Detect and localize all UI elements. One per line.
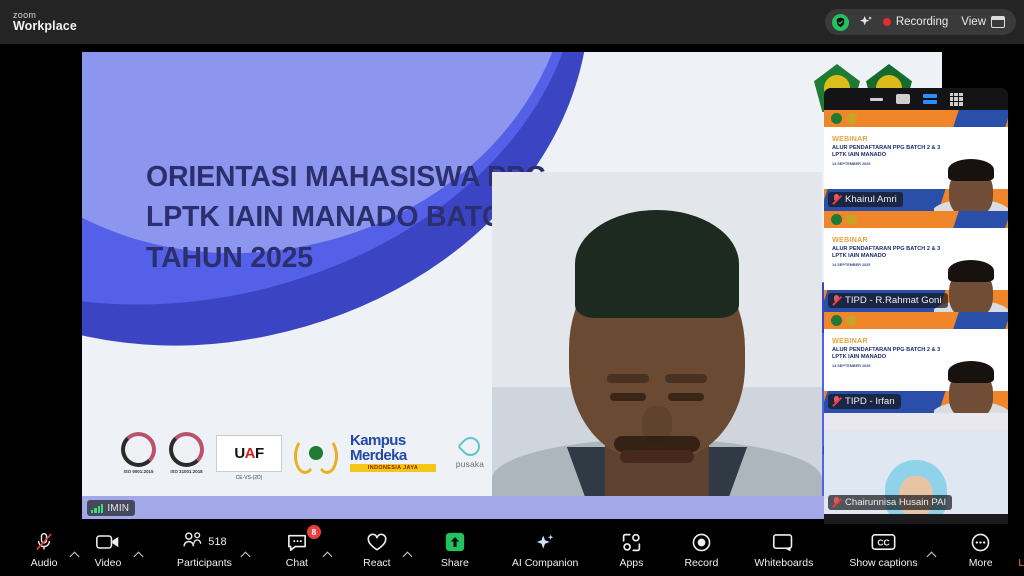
chat-label: Chat xyxy=(286,557,308,569)
react-label: React xyxy=(363,557,390,569)
audio-label: Audio xyxy=(31,557,58,569)
participants-button[interactable]: 518 Participants xyxy=(168,526,241,574)
audio-options-caret-icon[interactable] xyxy=(70,552,80,562)
chat-bubble-icon xyxy=(286,531,308,553)
meeting-stage: ORIENTASI MAHASISWA PPG LPTK IAIN MANADO… xyxy=(0,44,1024,524)
thumb-slide-date: 14 SEPTEMBER 2025 xyxy=(832,364,944,368)
shared-screen[interactable]: ORIENTASI MAHASISWA PPG LPTK IAIN MANADO… xyxy=(82,52,942,519)
participant-tile[interactable]: WEBINAR ALUR PENDAFTARAN PPG BATCH 2 & 3… xyxy=(824,211,1008,312)
layout-grid-icon xyxy=(991,16,1005,28)
participants-options-caret-icon[interactable] xyxy=(240,552,250,562)
more-label: More xyxy=(969,557,993,569)
view-selector[interactable]: View xyxy=(961,16,1005,28)
participant-name-badge: Khairul Amri xyxy=(828,192,903,207)
participants-label: Participants xyxy=(177,557,232,569)
record-label: Record xyxy=(684,557,718,569)
thumb-slide-date: 14 SEPTEMBER 2025 xyxy=(832,263,944,267)
show-captions-label: Show captions xyxy=(849,557,917,569)
record-dot-icon xyxy=(691,531,712,553)
share-screen-icon xyxy=(444,531,466,553)
apps-label: Apps xyxy=(619,557,643,569)
closed-caption-icon: CC xyxy=(871,531,896,553)
share-button[interactable]: Share xyxy=(429,526,481,574)
microphone-muted-icon xyxy=(832,295,841,306)
participant-name: TIPD - R.Rahmat Goni xyxy=(845,295,942,306)
sparkle-icon xyxy=(534,531,556,553)
share-label: Share xyxy=(441,557,469,569)
zoom-workplace-logo: zoom Workplace xyxy=(13,11,77,34)
video-options-caret-icon[interactable] xyxy=(134,552,144,562)
shield-check-icon[interactable] xyxy=(832,14,849,31)
recording-indicator[interactable]: Recording xyxy=(883,16,948,28)
view-label: View xyxy=(961,16,986,28)
speaker-view-icon[interactable] xyxy=(896,94,910,104)
participant-name-badge: Chairunnisa Husain PAI xyxy=(828,495,952,510)
apps-button[interactable]: Apps xyxy=(605,526,657,574)
meeting-status-controls: Recording View xyxy=(825,9,1016,35)
uaf-logo-icon: UAF CE-VS-(2D) xyxy=(216,435,282,472)
react-button[interactable]: React xyxy=(351,526,403,574)
more-button[interactable]: More xyxy=(955,526,1007,574)
participant-tile[interactable]: Chairunnisa Husain PAI xyxy=(824,413,1008,514)
record-button[interactable]: Record xyxy=(675,526,727,574)
participant-name: TIPD - Irfan xyxy=(845,396,895,407)
participants-filmstrip[interactable]: WEBINAR ALUR PENDAFTARAN PPG BATCH 2 & 3… xyxy=(824,88,1008,564)
window-title-bar: zoom Workplace Recording View xyxy=(0,0,1024,44)
ellipsis-icon xyxy=(970,531,991,553)
meeting-toolbar: Audio Video xyxy=(0,524,1024,576)
leave-button[interactable]: Leave xyxy=(1007,526,1024,574)
video-button[interactable]: Video xyxy=(82,526,134,574)
thumb-slide-title: ALUR PENDAFTARAN PPG BATCH 2 & 3 LPTK IA… xyxy=(832,145,944,160)
slide-logo-row: ISO 9001:2015 ISO 21001:2018 UAF CE-VS-(… xyxy=(120,432,493,475)
minimize-bar-icon[interactable] xyxy=(870,98,883,101)
participant-name: Chairunnisa Husain PAI xyxy=(845,497,946,508)
laurel-seal-logo-icon xyxy=(293,434,339,472)
ai-companion-button[interactable]: AI Companion xyxy=(503,526,588,574)
apps-icon xyxy=(621,531,642,553)
participants-count: 518 xyxy=(208,536,226,548)
thumb-slide-date: 14 SEPTEMBER 2025 xyxy=(832,162,944,166)
captions-options-caret-icon[interactable] xyxy=(926,552,936,562)
whiteboards-label: Whiteboards xyxy=(754,557,813,569)
participant-tile[interactable]: WEBINAR ALUR PENDAFTARAN PPG BATCH 2 & 3… xyxy=(824,110,1008,211)
participant-name-badge: TIPD - Irfan xyxy=(828,394,901,409)
chat-unread-badge: 8 xyxy=(307,525,321,539)
svg-text:CC: CC xyxy=(877,538,889,548)
thumb-slide-title: ALUR PENDAFTARAN PPG BATCH 2 & 3 LPTK IA… xyxy=(832,246,944,261)
kampus-merdeka-logo-icon: Kampus Merdeka INDONESIA JAYA xyxy=(350,434,436,472)
pusaka-logo-icon: pusaka xyxy=(447,437,493,469)
recording-dot-icon xyxy=(883,18,891,26)
chat-button[interactable]: 8 Chat xyxy=(271,526,323,574)
heart-icon xyxy=(366,531,388,553)
camera-icon xyxy=(96,531,120,553)
presenter-songkok-cap xyxy=(575,210,739,318)
thumb-slide-kicker: WEBINAR xyxy=(832,336,944,345)
iso-badge-2-icon: ISO 21001:2018 xyxy=(168,432,205,475)
microphone-muted-icon xyxy=(832,497,841,508)
presenter-name: IMIN xyxy=(107,503,129,514)
microphone-muted-icon xyxy=(34,531,54,553)
show-captions-button[interactable]: CC Show captions xyxy=(840,526,926,574)
side-by-side-view-icon[interactable] xyxy=(923,94,937,104)
gallery-view-icon[interactable] xyxy=(950,93,963,106)
participant-tile[interactable]: WEBINAR ALUR PENDAFTARAN PPG BATCH 2 & 3… xyxy=(824,312,1008,413)
sparkle-icon[interactable] xyxy=(858,14,874,30)
whiteboard-icon xyxy=(772,531,795,553)
chat-options-caret-icon[interactable] xyxy=(322,552,332,562)
iso-badge-1-icon: ISO 9001:2015 xyxy=(120,432,157,475)
thumb-slide-kicker: WEBINAR xyxy=(832,134,944,143)
microphone-muted-icon xyxy=(832,194,841,205)
layout-switcher xyxy=(824,88,1008,110)
participant-name: Khairul Amri xyxy=(845,194,897,205)
microphone-muted-icon xyxy=(832,396,841,407)
share-footer-strip xyxy=(82,496,942,519)
video-label: Video xyxy=(95,557,122,569)
thumb-slide-title: ALUR PENDAFTARAN PPG BATCH 2 & 3 LPTK IA… xyxy=(832,347,944,362)
react-options-caret-icon[interactable] xyxy=(402,552,412,562)
brand-workplace: Workplace xyxy=(13,20,77,33)
audio-button[interactable]: Audio xyxy=(18,526,70,574)
people-icon xyxy=(182,531,204,553)
recording-label: Recording xyxy=(896,16,948,28)
thumb-slide-kicker: WEBINAR xyxy=(832,235,944,244)
presenter-name-badge: IMIN xyxy=(87,500,135,516)
whiteboards-button[interactable]: Whiteboards xyxy=(745,526,822,574)
presenter-video-overlay xyxy=(492,172,822,519)
participant-name-badge: TIPD - R.Rahmat Goni xyxy=(828,293,948,308)
signal-strength-icon xyxy=(91,504,103,513)
leave-label: Leave xyxy=(1018,557,1024,569)
ai-companion-label: AI Companion xyxy=(512,557,579,569)
